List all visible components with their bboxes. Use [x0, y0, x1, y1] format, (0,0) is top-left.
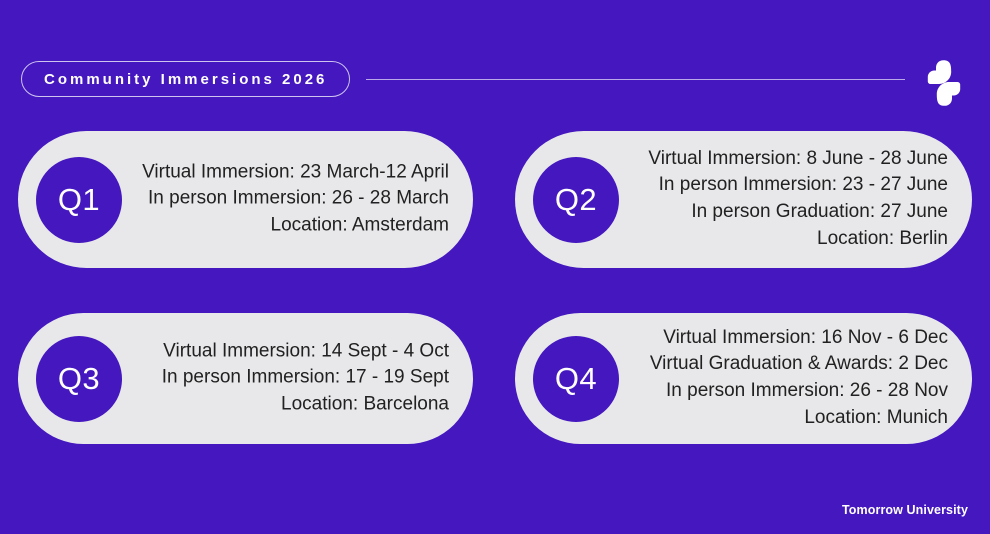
detail-line: Virtual Immersion: 16 Nov - 6 Dec	[650, 325, 948, 352]
detail-line: Virtual Graduation & Awards: 2 Dec	[650, 352, 948, 379]
organization-name: Tomorrow University	[842, 503, 968, 517]
quarter-details-q2: Virtual Immersion: 8 June - 28 June In p…	[648, 146, 948, 254]
title-pill: Community Immersions 2026	[21, 61, 350, 97]
detail-line: Location: Amsterdam	[142, 213, 449, 240]
detail-line: Location: Berlin	[648, 226, 948, 253]
detail-line: Location: Barcelona	[162, 392, 449, 419]
page-title: Community Immersions 2026	[44, 72, 327, 87]
detail-line: Virtual Immersion: 8 June - 28 June	[648, 146, 948, 173]
detail-line: Location: Munich	[650, 405, 948, 432]
quarter-badge-q1: Q1	[36, 157, 122, 243]
quarter-badge-q3: Q3	[36, 336, 122, 422]
quarter-details-q4: Virtual Immersion: 16 Nov - 6 Dec Virtua…	[650, 325, 948, 433]
footer: Tomorrow University	[842, 501, 968, 519]
quarter-details-q1: Virtual Immersion: 23 March-12 April In …	[142, 159, 449, 240]
quarter-badge-q4: Q4	[533, 336, 619, 422]
quarter-card-q1: Q1 Virtual Immersion: 23 March-12 April …	[18, 131, 473, 268]
quarter-badge-label: Q2	[555, 184, 597, 215]
quarter-badge-label: Q1	[58, 184, 100, 215]
detail-line: In person Immersion: 26 - 28 March	[142, 186, 449, 213]
detail-line: In person Immersion: 17 - 19 Sept	[162, 365, 449, 392]
quarter-details-q3: Virtual Immersion: 14 Sept - 4 Oct In pe…	[162, 338, 449, 419]
detail-line: In person Graduation: 27 June	[648, 200, 948, 227]
header-divider	[366, 79, 905, 80]
quarter-badge-q2: Q2	[533, 157, 619, 243]
quarter-card-q2: Q2 Virtual Immersion: 8 June - 28 June I…	[515, 131, 972, 268]
quarter-card-q3: Q3 Virtual Immersion: 14 Sept - 4 Oct In…	[18, 313, 473, 444]
detail-line: Virtual Immersion: 23 March-12 April	[142, 159, 449, 186]
butterfly-logo-icon	[918, 57, 970, 109]
quarter-badge-label: Q4	[555, 363, 597, 394]
quarter-badge-label: Q3	[58, 363, 100, 394]
detail-line: In person Immersion: 26 - 28 Nov	[650, 379, 948, 406]
quarter-card-q4: Q4 Virtual Immersion: 16 Nov - 6 Dec Vir…	[515, 313, 972, 444]
header: Community Immersions 2026	[0, 0, 990, 131]
slide-canvas: Community Immersions 2026 Q1 Virtual Imm…	[0, 0, 990, 534]
detail-line: In person Immersion: 23 - 27 June	[648, 173, 948, 200]
detail-line: Virtual Immersion: 14 Sept - 4 Oct	[162, 338, 449, 365]
